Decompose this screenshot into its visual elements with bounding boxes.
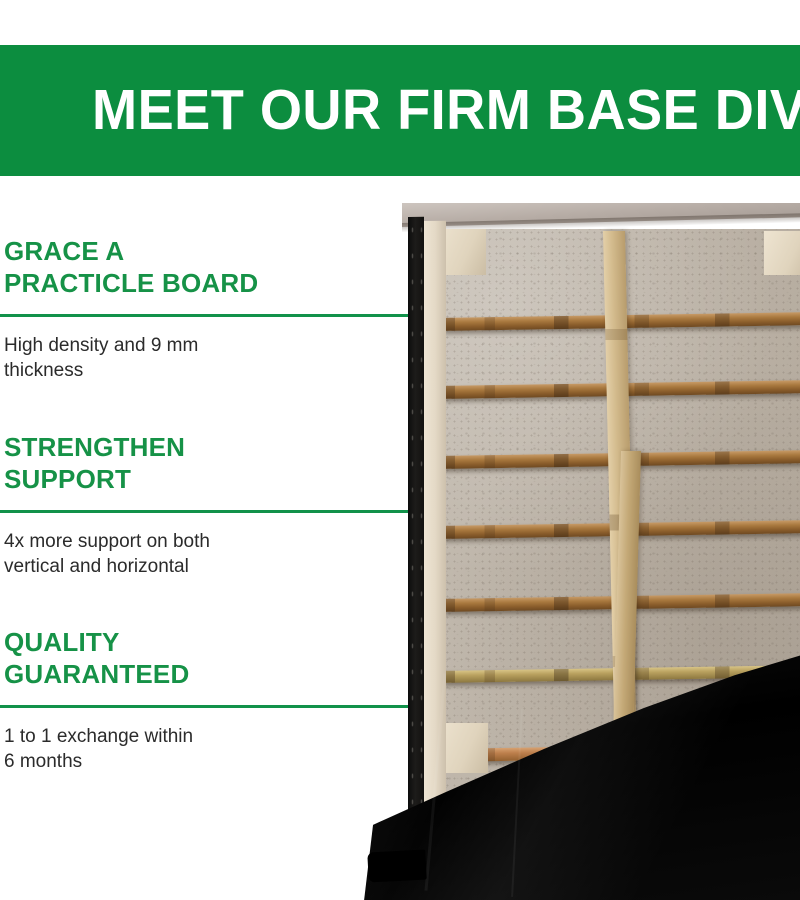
side-fabric-strip xyxy=(408,217,424,877)
page-title: MEET OUR FIRM BASE DIVAN xyxy=(92,82,800,139)
feature-block-practicle-board: GRACE A PRACTICLE BOARD High density and… xyxy=(0,236,420,384)
corner-block xyxy=(764,231,800,275)
promo-page: MEET OUR FIRM BASE DIVAN xyxy=(0,0,800,900)
feature-divider xyxy=(0,314,417,317)
divan-foot xyxy=(367,850,426,883)
feature-block-strengthen-support: STRENGTHEN SUPPORT 4x more support on bo… xyxy=(0,432,420,580)
feature-title: STRENGTHEN SUPPORT xyxy=(0,432,420,496)
feature-description: 1 to 1 exchange within 6 months xyxy=(0,725,420,775)
side-fabric-texture xyxy=(408,217,424,877)
feature-description: High density and 9 mm thickness xyxy=(0,334,420,384)
product-photo xyxy=(356,203,800,900)
spacer xyxy=(0,597,420,627)
feature-list: GRACE A PRACTICLE BOARD High density and… xyxy=(0,236,420,793)
divan-base-illustration xyxy=(356,203,800,900)
feature-description: 4x more support on both vertical and hor… xyxy=(0,530,420,580)
feature-title: QUALITY GUARANTEED xyxy=(0,627,420,691)
header-banner: MEET OUR FIRM BASE DIVAN xyxy=(0,45,800,176)
spacer xyxy=(0,402,420,432)
feature-block-quality-guaranteed: QUALITY GUARANTEED 1 to 1 exchange withi… xyxy=(0,627,420,775)
feature-divider xyxy=(0,510,417,513)
feature-divider xyxy=(0,705,417,708)
feature-title: GRACE A PRACTICLE BOARD xyxy=(0,236,420,300)
